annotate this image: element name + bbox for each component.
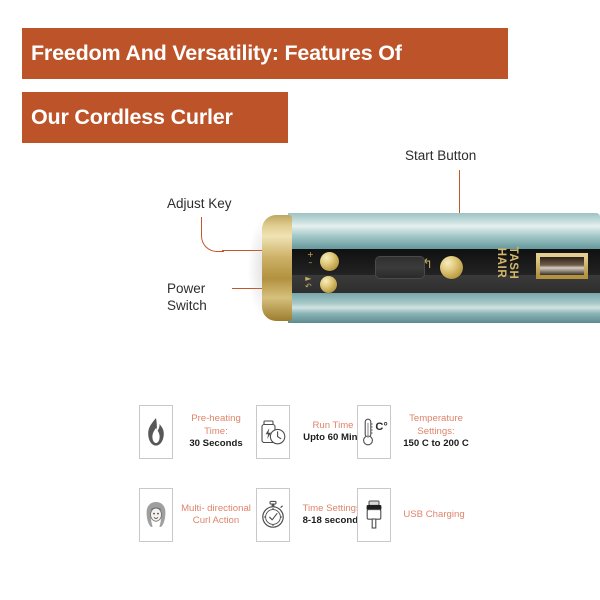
start-button[interactable] (440, 256, 463, 279)
feature-item-time-settings: Time Settings: 8-18 seconds (256, 488, 369, 542)
flame-icon (139, 405, 173, 459)
callout-line-adjust-key (201, 217, 224, 252)
feature-item-curl-action: Multi- directional Curl Action (139, 488, 252, 542)
device-barrel-lower (288, 291, 600, 323)
device-gold-loop (536, 253, 588, 279)
feature-label-usb-charging: USB Charging (398, 509, 470, 522)
thermometer-icon-unit-text: C° (375, 421, 387, 433)
product-photo-area: Start Button Adjust Key Power Switch +– … (0, 155, 600, 380)
feature-text-temperature: Temperature Settings: 150 C to 200 C (398, 413, 474, 451)
cordless-curler-device: +– ►↶ ↰ TASH HAIR (262, 213, 600, 323)
power-switch-button[interactable] (320, 276, 337, 293)
feature-spec-grid: Pre-heating Time: 30 Seconds Run Time Up… (0, 392, 600, 562)
feature-item-run-time: Run Time Upto 60 Mins (256, 405, 369, 459)
feature-label-temperature: Temperature Settings: (398, 413, 474, 438)
device-lcd-display (375, 256, 425, 279)
feature-item-temperature: C° Temperature Settings: 150 C to 200 C (357, 405, 474, 459)
infographic-page: Freedom And Versatility: Features Of Our… (0, 0, 600, 600)
adjust-key-button[interactable] (320, 252, 339, 271)
callout-label-adjust-key: Adjust Key (167, 195, 232, 212)
device-gold-endcap (262, 215, 292, 321)
power-play-icon: ►↶ (305, 275, 312, 291)
battery-clock-icon (256, 405, 290, 459)
adjust-plus-minus-icon: +– (307, 251, 314, 267)
feature-text-pre-heating: Pre-heating Time: 30 Seconds (180, 413, 252, 451)
feature-item-pre-heating: Pre-heating Time: 30 Seconds (139, 405, 252, 459)
feature-label-curl-action: Multi- directional Curl Action (180, 503, 252, 528)
stopwatch-icon (256, 488, 290, 542)
thermometer-icon: C° (357, 405, 391, 459)
headline-banner-line1: Freedom And Versatility: Features Of (22, 28, 508, 79)
usb-plug-icon (357, 488, 391, 542)
callout-label-start-button: Start Button (405, 147, 476, 164)
feature-value-temperature: 150 C to 200 C (398, 438, 474, 451)
callout-label-power-switch: Power Switch (167, 280, 207, 314)
feature-value-pre-heating: 30 Seconds (180, 438, 252, 451)
headline-banner-line2: Our Cordless Curler (22, 92, 288, 143)
curly-hair-face-icon (139, 488, 173, 542)
feature-item-usb-charging: USB Charging (357, 488, 470, 542)
feature-label-pre-heating: Pre-heating Time: (180, 413, 252, 438)
feature-text-usb-charging: USB Charging (398, 509, 470, 522)
feature-text-curl-action: Multi- directional Curl Action (180, 503, 252, 528)
brand-logo-text: TASH HAIR (475, 241, 519, 285)
